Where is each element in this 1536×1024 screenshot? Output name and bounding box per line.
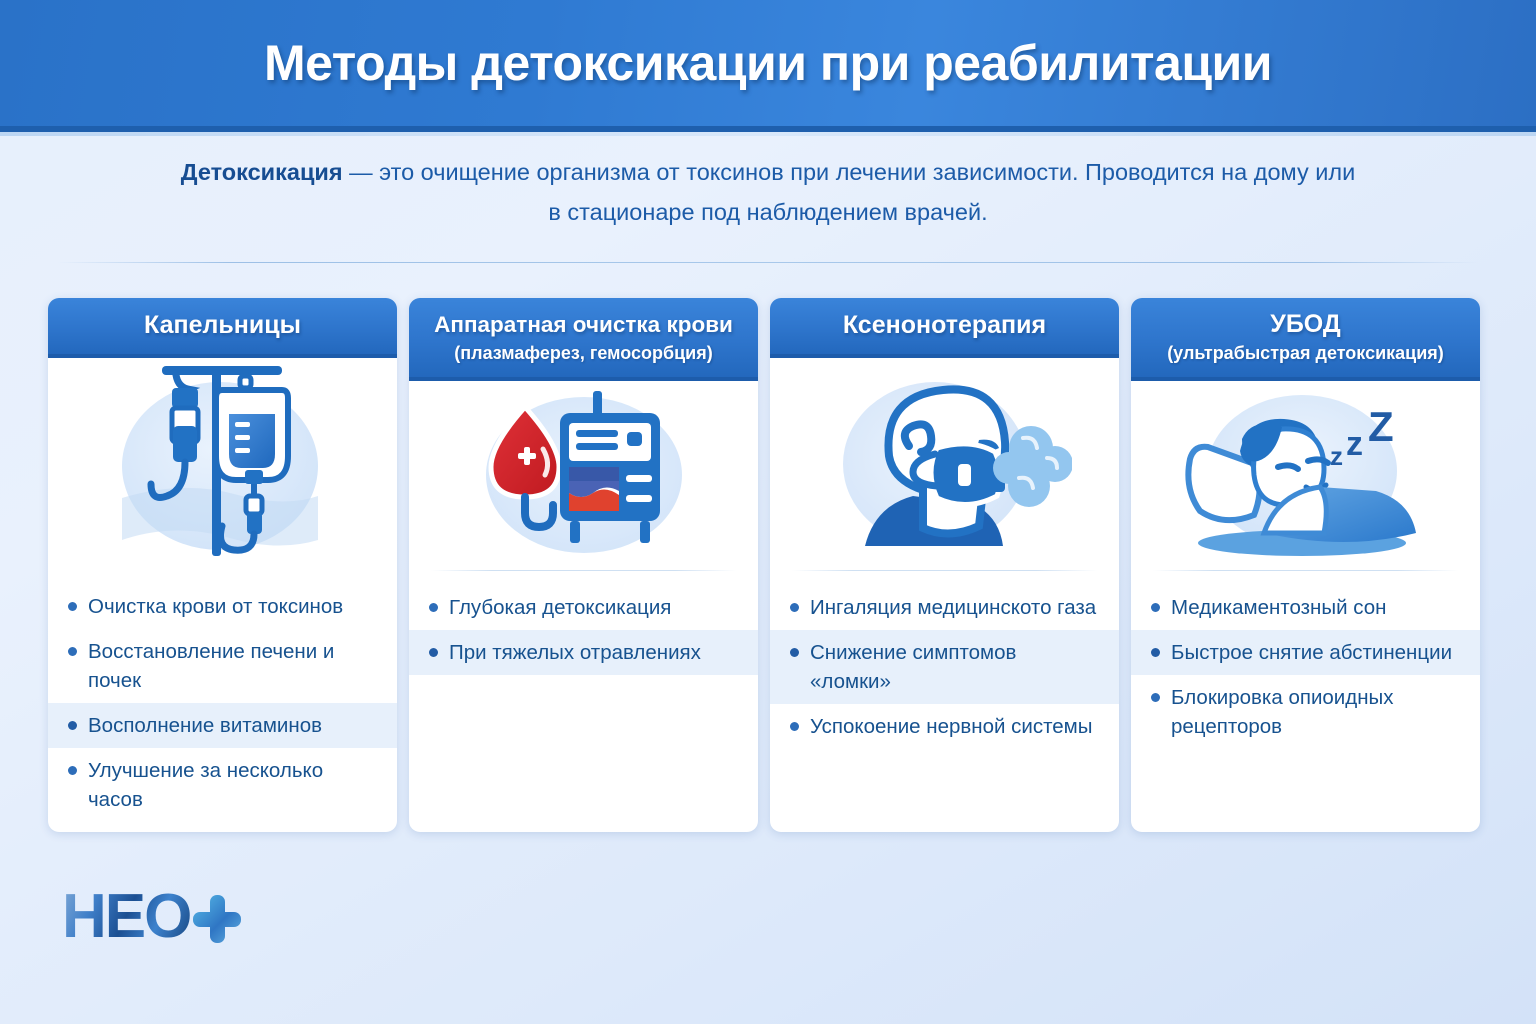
card-drip-bullets: Очистка крови от токсинов Восстановление…	[48, 570, 397, 832]
bullet-dot	[429, 648, 438, 657]
card-xenon-therapy-header: Ксенонотерапия	[770, 298, 1119, 358]
card-blood-purification[interactable]: Аппаратная очистка крови (плазмаферез, г…	[409, 298, 758, 832]
bullet-text: Улучшение за несколько часов	[88, 756, 379, 814]
list-item[interactable]: Ингаляция медицинското газа	[770, 585, 1119, 630]
card-xenon-therapy-bullets: Ингаляция медицинското газа Снижение сим…	[770, 571, 1119, 759]
blood-purification-icon	[409, 381, 758, 570]
list-item[interactable]: Улучшение за несколько часов	[48, 748, 397, 822]
intro-paragraph: Детоксикация — это очищение организма от…	[178, 152, 1358, 232]
plus-icon	[193, 895, 241, 943]
bullet-dot	[68, 721, 77, 730]
bullet-dot	[68, 766, 77, 775]
list-item[interactable]: Медикаментозный сон	[1131, 585, 1480, 630]
bullet-text: Медикаментозный сон	[1171, 593, 1386, 622]
brand-logo[interactable]: НЕО	[62, 886, 241, 948]
bullet-dot	[790, 603, 799, 612]
bullet-text: При тяжелых отравлениях	[449, 638, 701, 667]
card-drip[interactable]: Капельницы	[48, 298, 397, 832]
bullet-dot	[1151, 603, 1160, 612]
bullet-dot	[790, 648, 799, 657]
bullet-dot	[790, 722, 799, 731]
page-title: Методы детоксикации при реабилитации	[264, 34, 1272, 92]
svg-text:z: z	[1330, 441, 1343, 471]
bullet-dot	[68, 647, 77, 656]
list-item[interactable]: При тяжелых отравлениях	[409, 630, 758, 675]
bullet-text: Восстановление печени и почек	[88, 637, 379, 695]
bullet-text: Снижение симптомов «ломки»	[810, 638, 1101, 696]
brand-logo-text: НЕО	[62, 886, 190, 948]
svg-text:z: z	[1346, 425, 1363, 463]
card-blood-purification-subtitle: (плазмаферез, гемосорбция)	[417, 341, 750, 366]
intro-text: — это очищение организма от токсинов при…	[343, 159, 1356, 225]
card-xenon-therapy[interactable]: Ксенонотерапия	[770, 298, 1119, 832]
card-ubod[interactable]: УБОД (ультрабыстрая детоксикация)	[1131, 298, 1480, 832]
intro-block: Детоксикация — это очищение организма от…	[0, 152, 1536, 232]
bullet-text: Ингаляция медицинското газа	[810, 593, 1096, 622]
iv-drip-icon	[48, 358, 397, 570]
list-item[interactable]: Восполнение витаминов	[48, 703, 397, 748]
card-xenon-therapy-title: Ксенонотерапия	[780, 309, 1109, 342]
bullet-text: Быстрое снятие абстиненции	[1171, 638, 1452, 667]
oxygen-mask-icon	[770, 358, 1119, 570]
bullet-text: Успокоение нервной системы	[810, 712, 1093, 741]
card-blood-purification-title: Аппаратная очистка крови	[417, 308, 750, 341]
card-blood-purification-header: Аппаратная очистка крови (плазмаферез, г…	[409, 298, 758, 381]
bullet-dot	[1151, 693, 1160, 702]
list-item[interactable]: Восстановление печени и почек	[48, 629, 397, 703]
card-ubod-bullets: Медикаментозный сон Быстрое снятие абсти…	[1131, 571, 1480, 759]
bullet-dot	[429, 603, 438, 612]
bullet-text: Восполнение витаминов	[88, 711, 322, 740]
card-ubod-header: УБОД (ультрабыстрая детоксикация)	[1131, 298, 1480, 381]
card-ubod-subtitle: (ультрабыстрая детоксикация)	[1139, 341, 1472, 366]
method-cards: Капельницы	[48, 298, 1480, 832]
intro-lead: Детоксикация	[181, 159, 343, 185]
list-item[interactable]: Снижение симптомов «ломки»	[770, 630, 1119, 704]
section-divider	[58, 262, 1478, 263]
bullet-dot	[68, 602, 77, 611]
bullet-text: Глубокая детоксикация	[449, 593, 671, 622]
card-blood-purification-bullets: Глубокая детоксикация При тяжелых отравл…	[409, 571, 758, 685]
list-item[interactable]: Успокоение нервной системы	[770, 704, 1119, 749]
svg-text:Z: Z	[1368, 403, 1394, 450]
card-ubod-title: УБОД	[1139, 308, 1472, 341]
sleeping-patient-icon: z z Z	[1131, 381, 1480, 570]
list-item[interactable]: Очистка крови от токсинов	[48, 584, 397, 629]
bullet-text: Очистка крови от токсинов	[88, 592, 343, 621]
bullet-dot	[1151, 648, 1160, 657]
card-drip-title: Капельницы	[58, 309, 387, 342]
page-header: Методы детоксикации при реабилитации	[0, 0, 1536, 132]
list-item[interactable]: Глубокая детоксикация	[409, 585, 758, 630]
card-drip-header: Капельницы	[48, 298, 397, 358]
bullet-text: Блокировка опиоидных рецепторов	[1171, 683, 1462, 741]
list-item[interactable]: Блокировка опиоидных рецепторов	[1131, 675, 1480, 749]
list-item[interactable]: Быстрое снятие абстиненции	[1131, 630, 1480, 675]
